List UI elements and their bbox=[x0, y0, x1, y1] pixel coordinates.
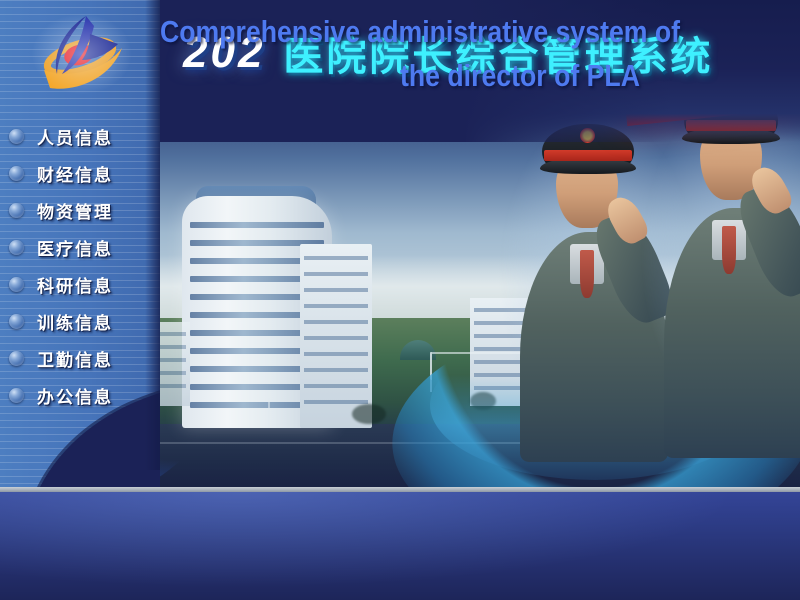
sidebar-item-finance[interactable]: 财经信息 bbox=[0, 155, 160, 192]
window-row bbox=[304, 256, 368, 260]
window-row bbox=[304, 352, 368, 356]
hospital-swoosh-logo bbox=[24, 8, 140, 100]
sidebar-item-label: 人员信息 bbox=[37, 124, 113, 149]
sidebar-item-label: 训练信息 bbox=[37, 309, 113, 334]
window-row bbox=[304, 368, 368, 372]
bullet-icon bbox=[9, 240, 24, 255]
sidebar-item-personnel[interactable]: 人员信息 bbox=[0, 118, 160, 155]
window-row bbox=[304, 304, 368, 308]
bullet-icon bbox=[9, 166, 24, 181]
bullet-icon bbox=[9, 314, 24, 329]
bullet-icon bbox=[9, 388, 24, 403]
bullet-icon bbox=[9, 277, 24, 292]
sidebar-item-training[interactable]: 训练信息 bbox=[0, 303, 160, 340]
footer-line-1: Comprehensive administrative system of bbox=[160, 14, 680, 50]
window-row bbox=[304, 288, 368, 292]
sidebar-item-label: 科研信息 bbox=[37, 272, 113, 297]
bullet-icon bbox=[9, 203, 24, 218]
sidebar-item-medical[interactable]: 医疗信息 bbox=[0, 229, 160, 266]
sidebar-item-label: 财经信息 bbox=[37, 161, 113, 186]
window-row bbox=[304, 320, 368, 324]
sidebar-item-office[interactable]: 办公信息 bbox=[0, 377, 160, 414]
tower-wing bbox=[300, 244, 372, 428]
splash-screen: ★ 八一 202 医院院长综合管理系统 人员信息 bbox=[0, 0, 800, 600]
sidebar-item-label: 办公信息 bbox=[37, 383, 113, 408]
window-row bbox=[304, 272, 368, 276]
bullet-icon bbox=[9, 129, 24, 144]
sidebar-item-health-service[interactable]: 卫勤信息 bbox=[0, 340, 160, 377]
sidebar-menu: 人员信息 财经信息 物资管理 医疗信息 科研信息 训练信息 bbox=[0, 118, 160, 414]
sidebar-item-label: 医疗信息 bbox=[37, 235, 113, 260]
sidebar-item-label: 物资管理 bbox=[37, 198, 113, 223]
window-row bbox=[304, 336, 368, 340]
sidebar-item-materials[interactable]: 物资管理 bbox=[0, 192, 160, 229]
footer-band bbox=[0, 487, 800, 600]
logo-glow bbox=[30, 12, 134, 96]
sidebar-item-research[interactable]: 科研信息 bbox=[0, 266, 160, 303]
window-row bbox=[304, 384, 368, 388]
footer-sheen bbox=[0, 492, 800, 600]
footer-line-2: the director of PLA bbox=[400, 58, 640, 94]
window-row bbox=[304, 400, 368, 404]
bullet-icon bbox=[9, 351, 24, 366]
sidebar-item-label: 卫勤信息 bbox=[37, 346, 113, 371]
